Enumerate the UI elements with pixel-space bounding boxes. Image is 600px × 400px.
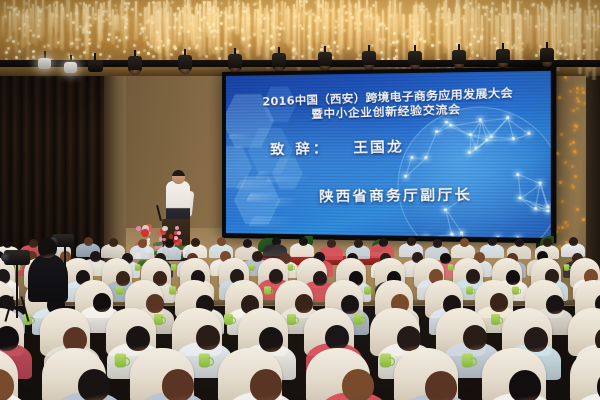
speaker-title: 陕西省商务厅副厅长 [319, 184, 472, 207]
led-screen: 2016中国（西安）跨境电子商务应用发展大会 暨中小企业创新经验交流会 致 辞：… [226, 71, 551, 238]
left-curtain [0, 48, 108, 263]
led-screen-frame: 2016中国（西安）跨境电子商务应用发展大会 暨中小企业创新经验交流会 致 辞：… [222, 67, 556, 244]
speaker-line: 致 辞：王国龙 [270, 136, 404, 159]
speaker-name: 王国龙 [353, 139, 404, 157]
event-title: 2016中国（西安）跨境电子商务应用发展大会 暨中小企业创新经验交流会 [240, 85, 539, 124]
conference-photo-scene: 2016中国（西安）跨境电子商务应用发展大会 暨中小企业创新经验交流会 致 辞：… [0, 0, 600, 400]
speaker-head [172, 170, 185, 184]
screen-text-layer: 2016中国（西安）跨境电子商务应用发展大会 暨中小企业创新经验交流会 致 辞：… [226, 71, 551, 238]
speaker-label: 致 辞： [270, 141, 331, 159]
left-wall-column [104, 48, 126, 263]
audience-area [0, 236, 600, 400]
